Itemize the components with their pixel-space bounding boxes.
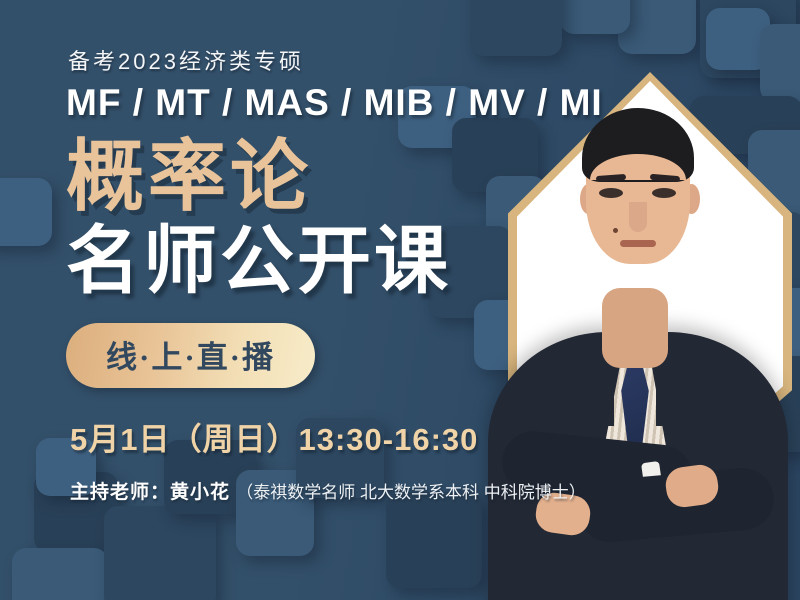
instructor-credentials: （泰祺数学名师 北大数学系本科 中科院博士） [236, 483, 585, 502]
decorative-square [12, 548, 108, 600]
poster-text-block: 备考2023经济类专硕 MF / MT / MAS / MIB / MV / M… [66, 44, 686, 504]
event-datetime: 5月1日（周日）13:30-16:30 [70, 414, 686, 459]
decorative-square [386, 492, 482, 588]
decorative-square [560, 0, 630, 34]
instructor-name: 主持老师：黄小花 [70, 482, 230, 503]
decorative-square [104, 506, 216, 600]
promo-poster: 备考2023经济类专硕 MF / MT / MAS / MIB / MV / M… [0, 0, 800, 600]
instructor-line: 主持老师：黄小花 （泰祺数学名师 北大数学系本科 中科院博士） [70, 477, 686, 504]
program-abbreviations: MF / MT / MAS / MIB / MV / MI [66, 82, 686, 124]
live-stream-badge-label: 线·上·直·播 [106, 340, 275, 375]
poster-kicker: 备考2023经济类专硕 [68, 44, 686, 76]
live-stream-badge: 线·上·直·播 [66, 323, 315, 388]
decorative-square [0, 178, 52, 246]
poster-title-secondary: 名师公开课 [66, 221, 686, 301]
poster-title-primary: 概率论 [66, 136, 686, 217]
